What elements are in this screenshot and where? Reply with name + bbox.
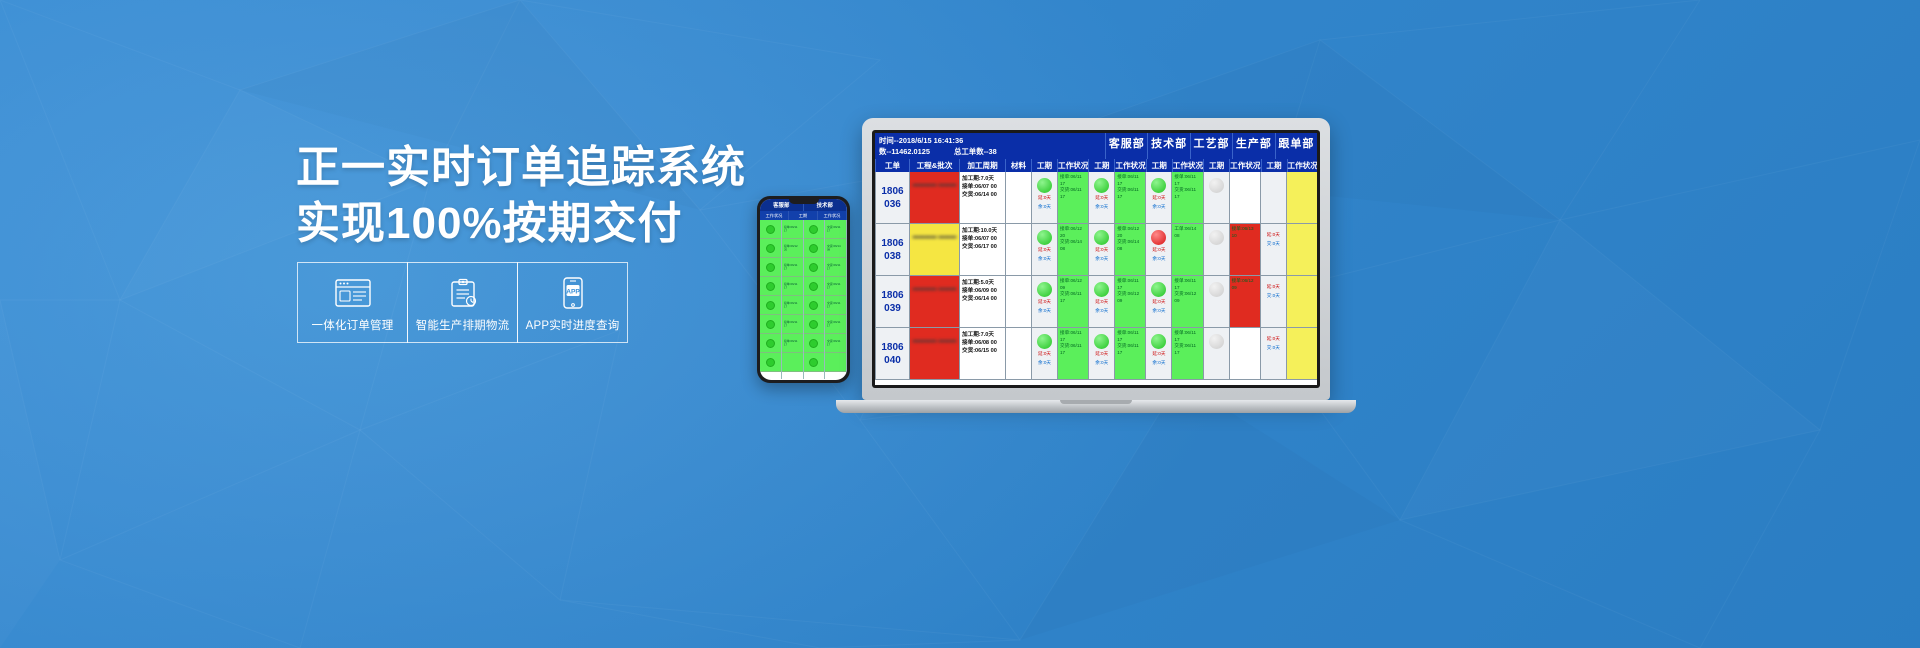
- status-dot-icon: [1037, 178, 1052, 193]
- status-dot-icon: [766, 358, 775, 367]
- status-dot-icon: [766, 320, 775, 329]
- status-line-1: 接单:06/11 17: [1174, 278, 1200, 291]
- status-line-1: 工单:06/14 08: [1174, 226, 1200, 239]
- remaining-pill: 余:0天: [1038, 360, 1051, 367]
- delay-pill: 延:0天: [1095, 299, 1108, 306]
- department-header: 跟单部: [1275, 133, 1317, 159]
- period-cell: 延:0天余:0天: [1145, 328, 1171, 379]
- column-header: 工单: [875, 159, 909, 172]
- status-line-2: 交货:06/11 17: [1060, 343, 1086, 356]
- remaining-pill: 余:0天: [1038, 256, 1051, 263]
- status-dot-icon: [1209, 282, 1224, 297]
- processing-cycle-cell: 加工期:5.0天 接单:06/09 00 交货:06/14 00: [959, 276, 1005, 327]
- delay-pill: 延:0天: [1095, 195, 1108, 202]
- laptop-screen[interactable]: 时间--2018/6/15 16:41:36 数--11462.0125 总工单…: [875, 133, 1317, 385]
- status-dot-icon: [766, 225, 775, 234]
- list-item[interactable]: [760, 239, 781, 258]
- list-item[interactable]: [804, 220, 825, 239]
- order-number-cell: 1806039: [875, 276, 909, 327]
- work-status-cell[interactable]: 接单:06/12 20交货:06/14 08: [1114, 224, 1145, 275]
- work-status-cell[interactable]: 接单:06/11 17交货:06/11 17: [1057, 172, 1088, 223]
- delay-pill: 延:0天: [1038, 299, 1051, 306]
- remaining-pill: 余:0天: [1095, 204, 1108, 211]
- status-dot-icon: [766, 301, 775, 310]
- status-dot-icon: [1037, 334, 1052, 349]
- period-cell: 延:0天余:0天: [1088, 276, 1114, 327]
- status-line-1: 接单:06/11 17: [1060, 174, 1086, 187]
- processing-cycle-cell: 加工期:10.0天 接单:06/07 00 交货:06/17 00: [959, 224, 1005, 275]
- processing-cycle-cell: 加工期:7.0天 接单:06/08 00 交货:06/15 00: [959, 328, 1005, 379]
- status-line-1: 接单:06/11 17: [1060, 330, 1086, 343]
- period-cell: [1203, 276, 1229, 327]
- svg-text:APP: APP: [566, 288, 580, 295]
- list-item[interactable]: [760, 258, 781, 277]
- phone-cell-line1: 接单:06/11 17: [784, 225, 801, 232]
- status-dot-icon: [766, 282, 775, 291]
- column-header: 工作状况: [1287, 159, 1318, 172]
- period-cell: [1203, 224, 1229, 275]
- list-item[interactable]: [804, 315, 825, 334]
- laptop-lid: 时间--2018/6/15 16:41:36 数--11462.0125 总工单…: [862, 118, 1330, 400]
- delay-pill: 延:0天: [1152, 351, 1165, 358]
- headline-line-1: 正一实时订单追踪系统: [296, 140, 746, 196]
- feature-item-production-scheduling[interactable]: 智能生产排期物流: [407, 262, 518, 343]
- column-header: 工作状况: [1057, 159, 1088, 172]
- work-status-cell[interactable]: 工单:06/14 08: [1171, 224, 1202, 275]
- phone-cell-line2: 交货:06/11 17: [827, 282, 844, 289]
- period-cell: 延:0天余:0天: [1031, 328, 1057, 379]
- delay-pill: 延:0天: [1038, 195, 1051, 202]
- column-header: 工期: [1146, 159, 1172, 172]
- status-dot-icon: [1151, 230, 1166, 245]
- department-header: 工艺部: [1190, 133, 1232, 159]
- status-line-1: 接单:06/11 17: [1117, 278, 1143, 291]
- list-item[interactable]: 接单:06/11 17: [782, 220, 803, 239]
- status-line-1: 接单:06/12 09: [1060, 278, 1086, 291]
- feature-item-order-management[interactable]: 一体化订单管理: [297, 262, 408, 343]
- order-number-top: 1806: [881, 237, 903, 250]
- phone-subhead: 工作状况: [760, 211, 789, 220]
- department-header: 客服部: [1105, 133, 1147, 159]
- material-cell: [1005, 172, 1031, 223]
- status-dot-icon: [766, 244, 775, 253]
- work-status-cell[interactable]: [1286, 172, 1317, 223]
- work-status-cell[interactable]: 接单:06/12 09交货:06/11 17: [1057, 276, 1088, 327]
- phone-cell-line1: 接单:06/12 20: [784, 244, 801, 251]
- period-cell: 延:0天余:0天: [1031, 172, 1057, 223]
- status-line-2: 交货:06/12 09: [1174, 291, 1200, 304]
- list-item[interactable]: [760, 277, 781, 296]
- order-number-bottom: 038: [884, 250, 901, 263]
- list-item[interactable]: [804, 353, 825, 372]
- remaining-pill: 余:0天: [1095, 360, 1108, 367]
- dashboard-meta: 时间--2018/6/15 16:41:36 数--11462.0125 总工单…: [875, 133, 1105, 159]
- dashboard-table-body[interactable]: 1806036▬▬▬▬ ▬▬▬加工期:7.0天 接单:06/07 00 交货:0…: [875, 172, 1317, 385]
- list-item[interactable]: [760, 334, 781, 353]
- clipboard-icon: [448, 273, 478, 313]
- status-dot-icon: [809, 263, 818, 272]
- status-line-2: 交货:06/11 17: [1174, 187, 1200, 200]
- status-dot-icon: [1151, 334, 1166, 349]
- status-line-2: 交货:06/11 17: [1060, 291, 1086, 304]
- phone-cell-line1: 接单:06/11 17: [784, 263, 801, 270]
- delay-pill: 延:0天: [1038, 351, 1051, 358]
- phone-screen: 客服部 技术部 工作状况 工期 工作状况: [760, 199, 847, 380]
- period-cell: 延:0天余:0天: [1031, 276, 1057, 327]
- project-batch-redacted: ▬▬▬▬ ▬▬▬: [910, 224, 959, 242]
- period-cell: 延:0天余:0天: [1145, 276, 1171, 327]
- status-dot-icon: [809, 225, 818, 234]
- column-header: 工期: [1203, 159, 1229, 172]
- list-item[interactable]: [760, 315, 781, 334]
- phone-cell-line2: 交货:06/11 17: [827, 263, 844, 270]
- status-line-1: 接单:06/12 09: [1232, 278, 1258, 291]
- project-batch-cell: ▬▬▬▬ ▬▬▬: [909, 224, 959, 275]
- project-batch-redacted: ▬▬▬▬ ▬▬▬: [910, 328, 959, 346]
- list-item[interactable]: [804, 239, 825, 258]
- delay-pill: 延:0天: [1038, 247, 1051, 254]
- period-cell: [1203, 328, 1229, 379]
- column-header: 工作状况: [1229, 159, 1260, 172]
- remaining-pill: 余:0天: [1152, 256, 1165, 263]
- list-item[interactable]: [804, 296, 825, 315]
- phone-column-status-b: [804, 220, 826, 379]
- work-status-cell[interactable]: 接单:06/11 17交货:06/11 17: [1057, 328, 1088, 379]
- list-item[interactable]: [782, 353, 803, 372]
- phone-subhead: 工作状况: [818, 211, 847, 220]
- list-item[interactable]: 交货:06/11 17: [825, 334, 846, 353]
- table-row[interactable]: 1806038▬▬▬▬ ▬▬▬加工期:10.0天 接单:06/07 00 交货:…: [875, 224, 1317, 276]
- status-dot-icon: [766, 339, 775, 348]
- column-header: 工作状况: [1114, 159, 1145, 172]
- status-line-1: 接单:06/11 17: [1117, 174, 1143, 187]
- status-dot-icon: [1151, 282, 1166, 297]
- phone-cell-line2: 交货:06/11 17: [827, 339, 844, 346]
- phone-notch: [789, 199, 819, 204]
- project-batch-cell: ▬▬▬▬ ▬▬▬: [909, 276, 959, 327]
- feature-item-app-progress-query[interactable]: APP APP实时进度查询: [517, 262, 628, 343]
- remaining-pill: 余:0天: [1038, 204, 1051, 211]
- phone-subheader: 工作状况 工期 工作状况: [760, 211, 847, 220]
- period-cell: 延:0天余:0天: [1145, 172, 1171, 223]
- list-item[interactable]: 接单:06/11 17: [782, 258, 803, 277]
- delay-pill: 延:0天: [1095, 247, 1108, 254]
- order-number-top: 1806: [881, 289, 903, 302]
- phone-cell-line2: 交货:06/11 17: [827, 320, 844, 327]
- laptop-base: [836, 400, 1356, 413]
- dashboard-header: 时间--2018/6/15 16:41:36 数--11462.0125 总工单…: [875, 133, 1317, 159]
- material-cell: [1005, 328, 1031, 379]
- list-item[interactable]: [760, 353, 781, 372]
- column-header: 工作状况: [1172, 159, 1203, 172]
- status-line-2: 交货:06/11 17: [1060, 187, 1086, 200]
- list-item[interactable]: [825, 353, 846, 372]
- list-item[interactable]: 接单:06/11 17: [782, 277, 803, 296]
- work-status-cell[interactable]: [1229, 328, 1260, 379]
- status-line-2: 交货:06/14 08: [1060, 239, 1086, 252]
- status-line-2: 交货:06/12 09: [1117, 291, 1143, 304]
- feature-label: APP实时进度查询: [526, 317, 620, 333]
- remaining-pill: 余:0天: [1095, 308, 1108, 315]
- list-item[interactable]: 交货:06/11 17: [825, 296, 846, 315]
- list-item[interactable]: 交货:06/11 17: [825, 277, 846, 296]
- status-dot-icon: [809, 301, 818, 310]
- remaining-pill: 交:0天: [1267, 293, 1280, 300]
- list-item[interactable]: 接单:06/11 17: [782, 315, 803, 334]
- status-line-2: 交货:06/14 08: [1117, 239, 1143, 252]
- project-batch-cell: ▬▬▬▬ ▬▬▬: [909, 172, 959, 223]
- material-cell: [1005, 224, 1031, 275]
- order-number-top: 1806: [881, 185, 903, 198]
- table-row[interactable]: 1806036▬▬▬▬ ▬▬▬加工期:7.0天 接单:06/07 00 交货:0…: [875, 172, 1317, 224]
- order-number-cell: 1806036: [875, 172, 909, 223]
- delay-pill: 延:0天: [1095, 351, 1108, 358]
- delay-pill: 延:0天: [1152, 299, 1165, 306]
- remaining-pill: 余:0天: [1152, 204, 1165, 211]
- column-header: 工期: [1088, 159, 1114, 172]
- column-header: 工期: [1031, 159, 1057, 172]
- status-dot-icon: [809, 320, 818, 329]
- column-header: 工期: [1261, 159, 1287, 172]
- status-dot-icon: [809, 244, 818, 253]
- list-item[interactable]: [760, 296, 781, 315]
- order-number-bottom: 040: [884, 354, 901, 367]
- delay-pill: 延:0天: [1267, 336, 1280, 343]
- remaining-pill: 余:0天: [1095, 256, 1108, 263]
- status-line-2: 交货:06/11 17: [1117, 343, 1143, 356]
- status-line-1: 接单:06/11 17: [1174, 330, 1200, 343]
- department-row: 客服部 技术部 工艺部 生产部 跟单部: [1105, 133, 1317, 159]
- status-dot-icon: [1094, 334, 1109, 349]
- list-item[interactable]: 交货:06/11 17: [825, 220, 846, 239]
- laptop-mockup: 时间--2018/6/15 16:41:36 数--11462.0125 总工单…: [862, 118, 1330, 413]
- phone-table[interactable]: 接单:06/11 17 接单:06/12 20 接单:06/11 17 接单:0…: [760, 220, 847, 379]
- phone-subhead: 工期: [789, 211, 818, 220]
- period-cell: 延:0天余:0天: [1088, 224, 1114, 275]
- delay-pill: 延:0天: [1267, 284, 1280, 291]
- work-status-cell[interactable]: 接单:06/11 17交货:06/11 17: [1171, 328, 1202, 379]
- delay-pill: 延:0天: [1152, 195, 1165, 202]
- status-line-2: 交货:06/11 17: [1117, 187, 1143, 200]
- remaining-pill: 交:0天: [1267, 345, 1280, 352]
- status-dot-icon: [809, 282, 818, 291]
- list-item[interactable]: [804, 334, 825, 353]
- remaining-pill: 余:0天: [1038, 308, 1051, 315]
- phone-cell-line1: 接单:06/11 17: [784, 301, 801, 308]
- list-item[interactable]: 接单:06/12 20: [782, 239, 803, 258]
- status-dot-icon: [809, 339, 818, 348]
- list-item[interactable]: 交货:06/11 17: [825, 258, 846, 277]
- list-item[interactable]: 接单:06/11 17: [782, 296, 803, 315]
- work-status-cell[interactable]: [1229, 172, 1260, 223]
- column-header: 材料: [1005, 159, 1031, 172]
- period-cell: 延:0天余:0天: [1088, 328, 1114, 379]
- work-status-cell[interactable]: 接单:06/13 10: [1229, 224, 1260, 275]
- column-header: 加工周期: [959, 159, 1005, 172]
- remaining-pill: 交:0天: [1267, 241, 1280, 248]
- order-tracking-dashboard: 时间--2018/6/15 16:41:36 数--11462.0125 总工单…: [875, 133, 1317, 385]
- delay-pill: 延:0天: [1152, 247, 1165, 254]
- order-number-cell: 1806038: [875, 224, 909, 275]
- headline-line-2: 实现100%按期交付: [296, 196, 746, 252]
- project-batch-redacted: ▬▬▬▬ ▬▬▬: [910, 276, 959, 294]
- dashboard-count: 数--11462.0125: [879, 147, 930, 156]
- list-item[interactable]: 接单:06/11 17: [782, 334, 803, 353]
- table-row[interactable]: 1806040▬▬▬▬ ▬▬▬加工期:7.0天 接单:06/08 00 交货:0…: [875, 328, 1317, 380]
- delay-pill: 延:0天: [1267, 232, 1280, 239]
- feature-label: 一体化订单管理: [312, 317, 394, 333]
- status-dot-icon: [1151, 178, 1166, 193]
- feature-label: 智能生产排期物流: [416, 317, 510, 333]
- status-line-2: 交货:06/11 17: [1174, 343, 1200, 356]
- work-status-cell[interactable]: [1286, 224, 1317, 275]
- browser-window-icon: [335, 273, 371, 313]
- project-batch-redacted: ▬▬▬▬ ▬▬▬: [910, 172, 959, 190]
- hero-copy: 正一实时订单追踪系统 实现100%按期交付: [296, 140, 746, 252]
- work-status-cell[interactable]: 接单:06/11 17交货:06/11 17: [1114, 172, 1145, 223]
- laptop-bezel: 时间--2018/6/15 16:41:36 数--11462.0125 总工单…: [872, 130, 1320, 388]
- list-item[interactable]: [804, 277, 825, 296]
- status-dot-icon: [809, 358, 818, 367]
- period-cell: 延:0天余:0天: [1145, 224, 1171, 275]
- status-line-1: 接单:06/12 20: [1117, 226, 1143, 239]
- status-line-1: 接单:06/11 17: [1174, 174, 1200, 187]
- period-cell: 延:0天余:0天: [1031, 224, 1057, 275]
- phone-column-detail-b: 交货:06/11 17 交货:06/14 08 交货:06/11 17 交货:0…: [825, 220, 847, 379]
- work-status-cell[interactable]: 接单:06/11 17交货:06/12 09: [1171, 276, 1202, 327]
- period-cell: [1260, 172, 1286, 223]
- work-status-cell[interactable]: [1286, 328, 1317, 379]
- status-dot-icon: [1094, 178, 1109, 193]
- list-item[interactable]: [760, 220, 781, 239]
- work-status-cell[interactable]: 接单:06/12 09: [1229, 276, 1260, 327]
- status-line-1: 接单:06/12 20: [1060, 226, 1086, 239]
- material-cell: [1005, 276, 1031, 327]
- phone-column-detail-a: 接单:06/11 17 接单:06/12 20 接单:06/11 17 接单:0…: [782, 220, 804, 379]
- work-status-cell[interactable]: 接单:06/11 17交货:06/12 09: [1114, 276, 1145, 327]
- status-dot-icon: [1094, 230, 1109, 245]
- period-cell: [1203, 172, 1229, 223]
- work-status-cell[interactable]: [1286, 276, 1317, 327]
- order-number-cell: 1806040: [875, 328, 909, 379]
- phone-cell-line2: 交货:06/11 17: [827, 225, 844, 232]
- work-status-cell[interactable]: 接单:06/11 17交货:06/11 17: [1171, 172, 1202, 223]
- mobile-app-icon: APP: [561, 273, 585, 313]
- column-header-row: 工单 工程&批次 加工周期 材料 工期 工作状况 工期 工作状况 工期 工作状况…: [875, 159, 1317, 172]
- remaining-pill: 余:0天: [1152, 308, 1165, 315]
- status-dot-icon: [1209, 178, 1224, 193]
- dashboard-timestamp: 时间--2018/6/15 16:41:36: [879, 135, 1101, 146]
- dashboard-total-orders: 总工单数--38: [954, 147, 997, 156]
- period-cell: 延:0天交:0天: [1260, 276, 1286, 327]
- period-cell: 延:0天余:0天: [1088, 172, 1114, 223]
- work-status-cell[interactable]: 接单:06/12 20交货:06/14 08: [1057, 224, 1088, 275]
- phone-cell-line2: 交货:06/11 17: [827, 301, 844, 308]
- list-item[interactable]: 交货:06/14 08: [825, 239, 846, 258]
- list-item[interactable]: 交货:06/11 17: [825, 315, 846, 334]
- project-batch-cell: ▬▬▬▬ ▬▬▬: [909, 328, 959, 379]
- status-dot-icon: [1037, 282, 1052, 297]
- order-number-bottom: 036: [884, 198, 901, 211]
- phone-cell-line1: 接单:06/11 17: [784, 282, 801, 289]
- phone-cell-line1: 接单:06/11 17: [784, 320, 801, 327]
- status-dot-icon: [766, 263, 775, 272]
- status-dot-icon: [1209, 230, 1224, 245]
- feature-list: 一体化订单管理 智能生产排期物流: [297, 262, 628, 343]
- department-header: 生产部: [1232, 133, 1274, 159]
- list-item[interactable]: [804, 258, 825, 277]
- phone-cell-line2: 交货:06/14 08: [827, 244, 844, 251]
- table-row[interactable]: 1806039▬▬▬▬ ▬▬▬加工期:5.0天 接单:06/09 00 交货:0…: [875, 276, 1317, 328]
- status-line-1: 接单:06/13 10: [1232, 226, 1258, 239]
- order-number-bottom: 039: [884, 302, 901, 315]
- work-status-cell[interactable]: 接单:06/11 17交货:06/11 17: [1114, 328, 1145, 379]
- phone-cell-line1: 接单:06/11 17: [784, 339, 801, 346]
- order-number-top: 1806: [881, 341, 903, 354]
- status-line-1: 接单:06/11 17: [1117, 330, 1143, 343]
- department-header: 技术部: [1147, 133, 1189, 159]
- dashboard-count-line: 数--11462.0125 总工单数--38: [879, 146, 1101, 157]
- status-dot-icon: [1209, 334, 1224, 349]
- period-cell: 延:0天交:0天: [1260, 224, 1286, 275]
- status-dot-icon: [1094, 282, 1109, 297]
- status-dot-icon: [1037, 230, 1052, 245]
- phone-column-status-a: [760, 220, 782, 379]
- column-header: 工程&批次: [909, 159, 959, 172]
- remaining-pill: 余:0天: [1152, 360, 1165, 367]
- period-cell: 延:0天交:0天: [1260, 328, 1286, 379]
- hero-banner: 正一实时订单追踪系统 实现100%按期交付 一体化订单管理: [0, 0, 1920, 648]
- phone-mockup: 客服部 技术部 工作状况 工期 工作状况: [757, 196, 850, 383]
- processing-cycle-cell: 加工期:7.0天 接单:06/07 00 交货:06/14 00: [959, 172, 1005, 223]
